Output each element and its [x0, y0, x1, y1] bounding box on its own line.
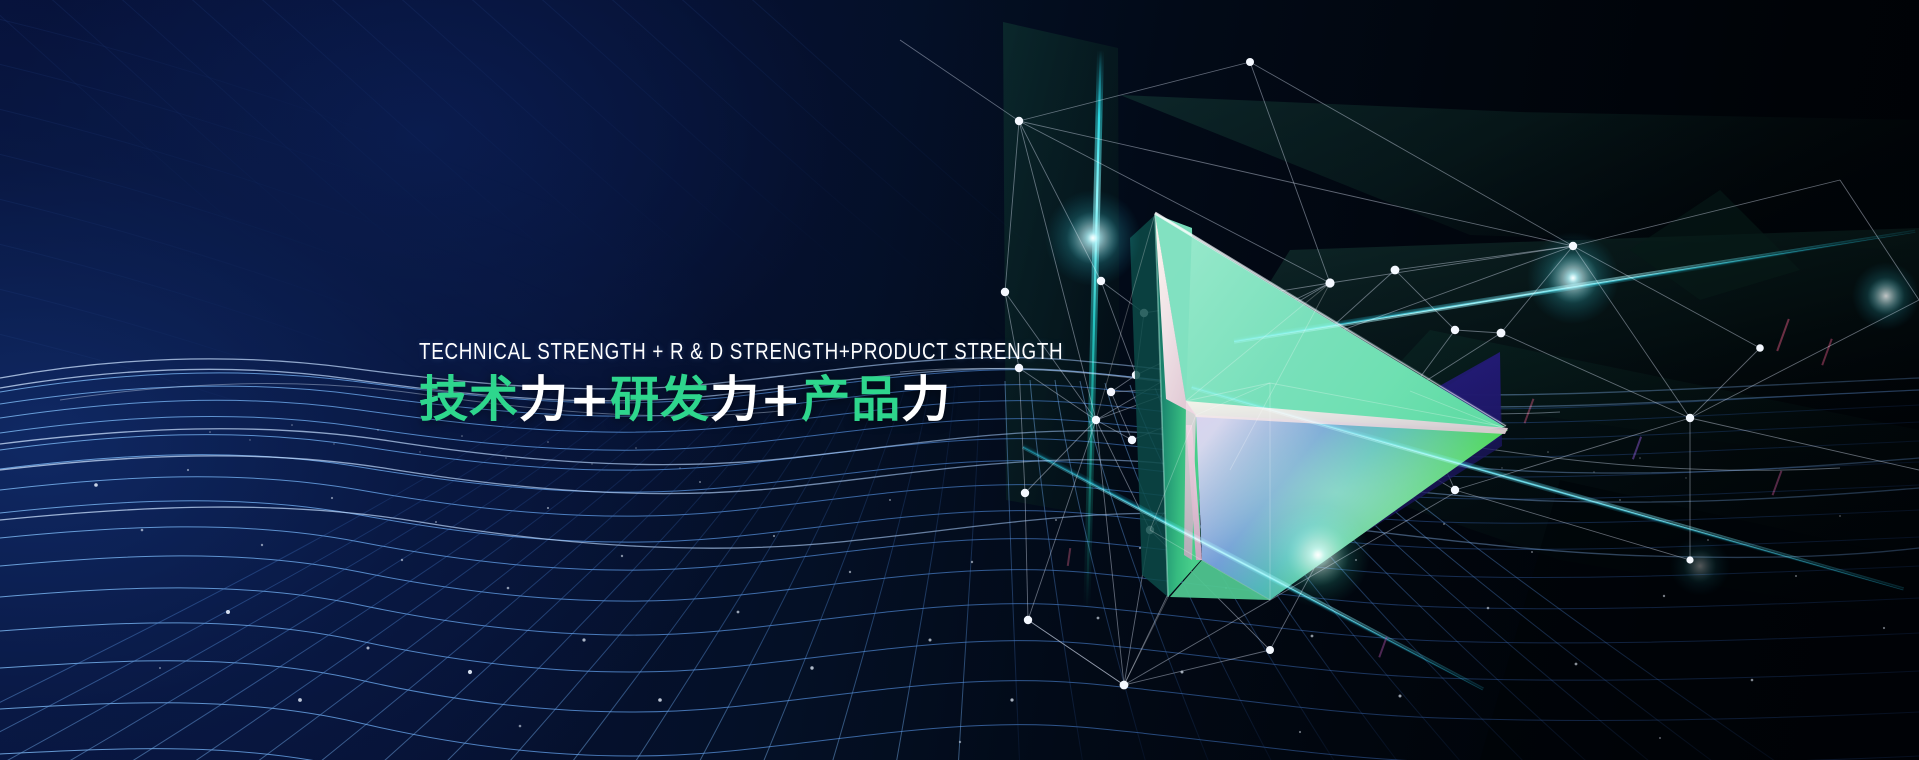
title-segment-6: 力 [901, 371, 951, 428]
title-segment-4: 力 [710, 371, 760, 428]
hero-banner: TECHNICAL STRENGTH + R & D STRENGTH+PROD… [0, 0, 1919, 760]
title-segment-5: 产品 [801, 371, 901, 428]
title-segment-1: 技术 [419, 371, 519, 428]
title-plus-2: + [760, 371, 801, 428]
title-chinese: 技术力+研发力+产品力 [419, 370, 1039, 430]
title-segment-2: 力 [519, 371, 569, 428]
subtitle-english: TECHNICAL STRENGTH + R & D STRENGTH+PROD… [419, 338, 915, 364]
title-plus-1: + [569, 371, 610, 428]
title-segment-3: 研发 [610, 371, 710, 428]
headline-block: TECHNICAL STRENGTH + R & D STRENGTH+PROD… [419, 338, 1039, 430]
